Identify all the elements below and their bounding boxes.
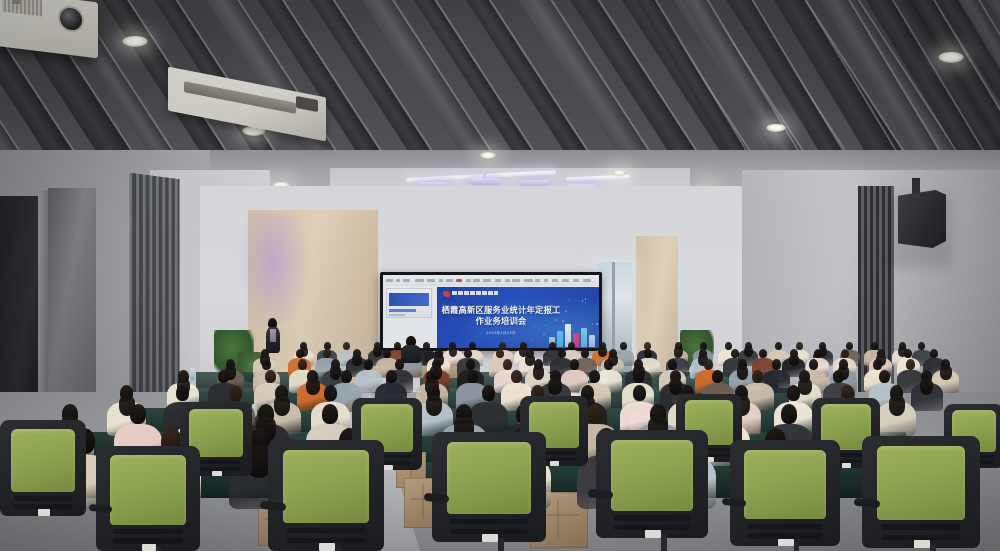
presenter-meta-line: [389, 314, 405, 316]
attendee-head: [218, 370, 229, 383]
toolbar-chip: [552, 279, 557, 282]
attendee-hair: [373, 347, 382, 357]
attendee-head: [620, 342, 627, 350]
toolbar-chip: [512, 279, 521, 282]
chair-mesh-panel: [283, 450, 369, 523]
attendee-head: [265, 370, 276, 383]
toolbar-chip: [439, 279, 444, 282]
chair-brand-tag: [645, 530, 661, 538]
attendee-hair: [306, 379, 320, 395]
downlight-4: [480, 152, 496, 159]
attendee-head: [558, 349, 566, 358]
chair-support-slat: [450, 519, 528, 525]
attendee-head: [511, 370, 522, 383]
slide-bar-5: [581, 328, 587, 347]
attendee-head: [712, 370, 723, 383]
attendee-head: [298, 359, 307, 370]
attendee-head: [846, 342, 853, 350]
chair-gas-cylinder: [661, 534, 667, 551]
attendee-head: [633, 370, 644, 383]
chair-brand-tag: [842, 463, 852, 468]
attendee-head: [467, 370, 478, 383]
attendee-head: [589, 370, 600, 383]
slide-bar-6: [589, 335, 595, 347]
chair-brand-tag: [550, 461, 560, 466]
attendee-head: [549, 342, 556, 350]
office-chair-2[interactable]: [96, 446, 200, 551]
attendee-hair: [940, 366, 951, 380]
chair-brand-tag: [38, 509, 50, 516]
attendee-head: [469, 342, 476, 350]
chair-gas-cylinder: [335, 547, 341, 551]
water-bottle-1: [190, 368, 195, 381]
toolbar-chip: [573, 279, 579, 282]
chair-gas-cylinder: [156, 547, 161, 551]
slide-logo-text: [452, 291, 498, 295]
chair-gas-cylinder: [794, 542, 800, 551]
attendee-head: [386, 370, 397, 383]
attendee-head: [482, 385, 495, 401]
chair-support-slat: [748, 524, 823, 529]
attendee-hair: [274, 396, 290, 416]
attendee-hair: [737, 366, 748, 380]
toolbar-chip: [583, 279, 591, 282]
slide-title: 栖霞高新区服务业统计年定报工作业务培训会: [441, 305, 561, 327]
attendee-head: [296, 349, 304, 358]
chair-gas-cylinder: [930, 544, 936, 551]
wall-speaker-icon: [898, 190, 946, 248]
accent-light-2: [470, 178, 500, 185]
attendee-head: [466, 359, 475, 370]
chair-brand-tag: [482, 534, 498, 542]
presenter-slide-thumbnail: [389, 293, 429, 306]
chair-support-slat: [748, 533, 823, 538]
presenter-progress-bar: [389, 309, 416, 312]
attendee-head: [423, 342, 430, 350]
chair-mesh-panel: [877, 446, 964, 520]
slide-dot: [596, 323, 597, 324]
attendee-head: [809, 359, 818, 370]
toolbar-chip: [524, 279, 533, 282]
chair-mesh-panel: [611, 440, 694, 511]
attendee-head: [772, 359, 781, 370]
chair-brand-tag: [319, 543, 335, 551]
attendee-head: [496, 349, 504, 358]
office-chair-4[interactable]: [432, 432, 546, 542]
attendee-head: [322, 404, 338, 424]
projector-mount: [12, 0, 20, 4]
downlight-5: [612, 170, 627, 176]
toolbar-chip: [535, 279, 540, 282]
attendee-head: [130, 404, 146, 424]
chair-brand-tag: [914, 540, 931, 548]
chair-support-slat: [14, 496, 72, 501]
chair-support-slat: [287, 528, 366, 534]
attendee-head: [731, 349, 739, 358]
chair-support-slat: [881, 524, 961, 530]
attendee-head: [871, 342, 878, 350]
attendee-head: [503, 359, 512, 370]
toolbar-chip: [403, 279, 410, 282]
downlight-7: [938, 52, 964, 63]
toolbar-chip: [386, 279, 393, 282]
attendee-head: [879, 370, 890, 383]
operator-body: [401, 345, 421, 363]
chair-brand-tag: [778, 539, 793, 546]
toolbar-chip: [466, 279, 471, 282]
office-chair-6[interactable]: [730, 440, 840, 546]
downlight-1: [122, 36, 148, 47]
toolbar-chip: [415, 279, 424, 282]
chair-brand-tag: [383, 465, 393, 470]
chair-support-slat: [113, 538, 184, 543]
office-chair-1[interactable]: [0, 420, 86, 516]
attendee-hair: [798, 379, 812, 395]
attendee-head: [674, 349, 682, 358]
chair-brand-tag: [212, 471, 222, 476]
attendee-head: [704, 359, 713, 370]
attendee-head: [568, 342, 575, 350]
attendee-head: [796, 342, 803, 350]
wall-accent-glow: [236, 214, 310, 334]
attendee-head: [581, 349, 589, 358]
toolbar-chip: [396, 279, 400, 282]
attendee-head: [814, 349, 822, 358]
attendee-head: [668, 359, 677, 370]
toolbar-chip: [427, 279, 434, 282]
box-edge: [422, 484, 424, 519]
presentation-slide: 栖霞高新区服务业统计年定报工作业务培训会 2025年1月23日: [437, 287, 599, 348]
chair-support-slat: [614, 515, 690, 520]
attendee-head: [262, 359, 271, 370]
toolbar-chip: [562, 279, 569, 282]
attendee-head: [229, 385, 242, 401]
attendee-head: [604, 359, 613, 370]
office-chair-7[interactable]: [862, 436, 980, 548]
attendee-hair: [548, 379, 562, 395]
attendee-head: [570, 359, 579, 370]
toolbar-chip: [505, 279, 510, 282]
attendee-head: [644, 349, 652, 358]
attendee-hair: [330, 366, 341, 380]
toolbar-chip: [446, 279, 453, 282]
chair-support-slat: [113, 529, 184, 534]
attendee-hair: [449, 347, 458, 357]
toolbar-chip: [456, 279, 462, 282]
slide-dot: [569, 300, 570, 301]
attendee-hair: [789, 355, 799, 366]
attendee-head: [341, 370, 352, 383]
attendee-head: [324, 385, 337, 401]
attendee-head: [873, 359, 882, 370]
slide-date: 2025年1月23日: [441, 331, 561, 336]
slide-logo-icon: [443, 291, 450, 297]
office-chair-5[interactable]: [596, 430, 708, 538]
attendee-head: [587, 404, 603, 424]
attendee-head: [633, 385, 646, 401]
attendee-hair: [533, 366, 544, 380]
attendee-head: [394, 342, 401, 350]
attendee-head: [176, 385, 189, 401]
attendee-head: [323, 349, 331, 358]
presentation-app-toolbar[interactable]: [383, 275, 599, 286]
attendee-head: [343, 342, 350, 350]
chair-mesh-panel: [11, 429, 75, 492]
attendee-head: [787, 385, 800, 401]
chair-mesh-panel: [110, 455, 187, 524]
attendee-head: [725, 342, 732, 350]
toolbar-chip: [495, 279, 501, 282]
toolbar-chip: [473, 279, 480, 282]
speaker-bracket: [912, 178, 920, 194]
attendee-hair: [889, 396, 905, 416]
attendee-head: [906, 359, 915, 370]
attendee-head: [833, 370, 844, 383]
box-edge: [557, 499, 559, 538]
presenter-scarf: [270, 329, 276, 342]
attendee-head: [781, 404, 797, 424]
chair-gas-cylinder: [498, 538, 504, 551]
office-chair-3[interactable]: [268, 440, 384, 551]
attendee-head: [752, 370, 763, 383]
slide-dot: [585, 302, 586, 303]
attendee-head: [841, 349, 849, 358]
attendee-hair: [744, 347, 753, 357]
attendee-hair: [426, 396, 442, 416]
chair-brand-tag: [142, 544, 157, 551]
attendee-head: [364, 359, 373, 370]
downlight-8: [766, 124, 786, 132]
slide-bar-2: [557, 331, 563, 347]
conference-room-photo: 栖霞高新区服务业统计年定报工作业务培训会 2025年1月23日: [0, 0, 1000, 551]
toolbar-chip: [483, 279, 491, 282]
toolbar-chip: [544, 279, 549, 282]
chair-mesh-panel: [447, 442, 531, 515]
attendee-head: [464, 349, 472, 358]
attendee-head: [918, 342, 925, 350]
attendee-head: [775, 342, 782, 350]
chair-mesh-panel: [744, 450, 825, 520]
attendee-hair: [920, 379, 934, 395]
attendee-hair: [598, 347, 607, 357]
slide-dot: [565, 310, 567, 312]
box-seam: [540, 514, 577, 516]
